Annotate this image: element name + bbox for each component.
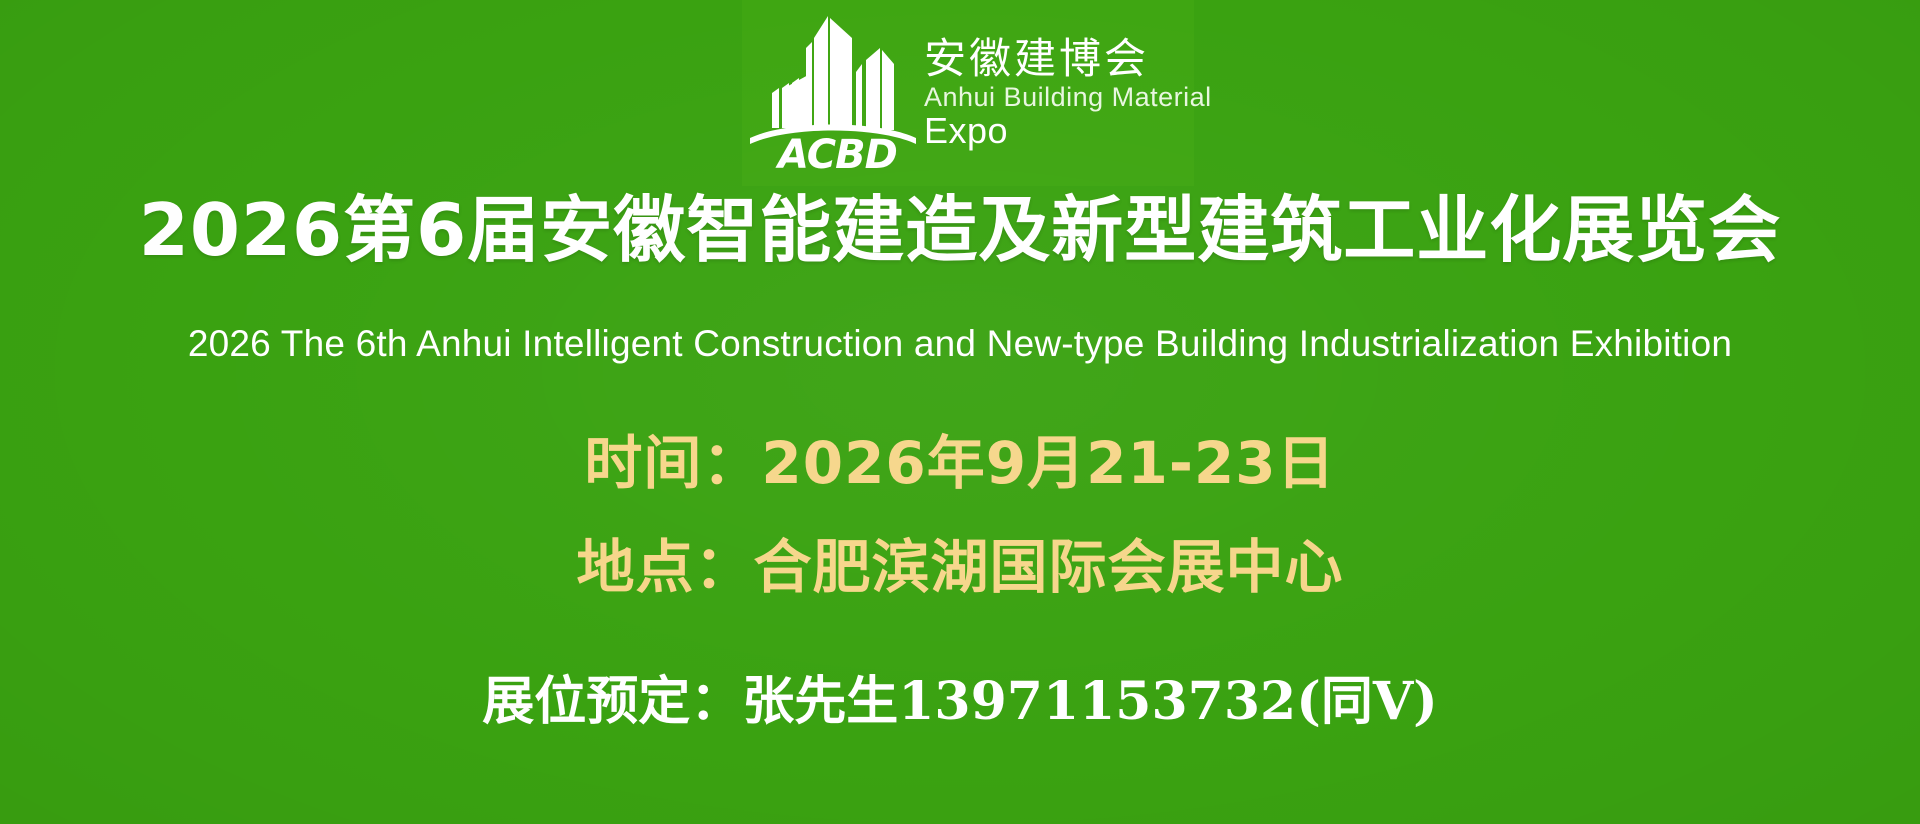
logo-wordmark: 安徽建博会 Anhui Building Material Expo: [924, 38, 1212, 149]
logo-name-cn: 安徽建博会: [924, 38, 1212, 80]
svg-text:ACBD: ACBD: [775, 132, 897, 178]
booth-contact-line: 展位预定：张先生13971153732(同V): [0, 676, 1920, 728]
page-title-en: 2026 The 6th Anhui Intelligent Construct…: [0, 322, 1920, 366]
acbd-building-logo-icon: ACBD: [748, 8, 918, 178]
expo-poster: ACBD 安徽建博会 Anhui Building Material Expo …: [0, 0, 1920, 824]
logo-name-en-line1: Anhui Building Material: [924, 84, 1212, 111]
event-date-line: 时间：2026年9月21-23日: [0, 434, 1920, 492]
exhibition-logo-block: ACBD 安徽建博会 Anhui Building Material Expo: [742, 0, 1194, 186]
page-title-cn: 2026第6届安徽智能建造及新型建筑工业化展览会: [0, 194, 1920, 266]
logo-name-en-line2: Expo: [924, 113, 1212, 149]
event-venue-line: 地点：合肥滨湖国际会展中心: [0, 538, 1920, 596]
